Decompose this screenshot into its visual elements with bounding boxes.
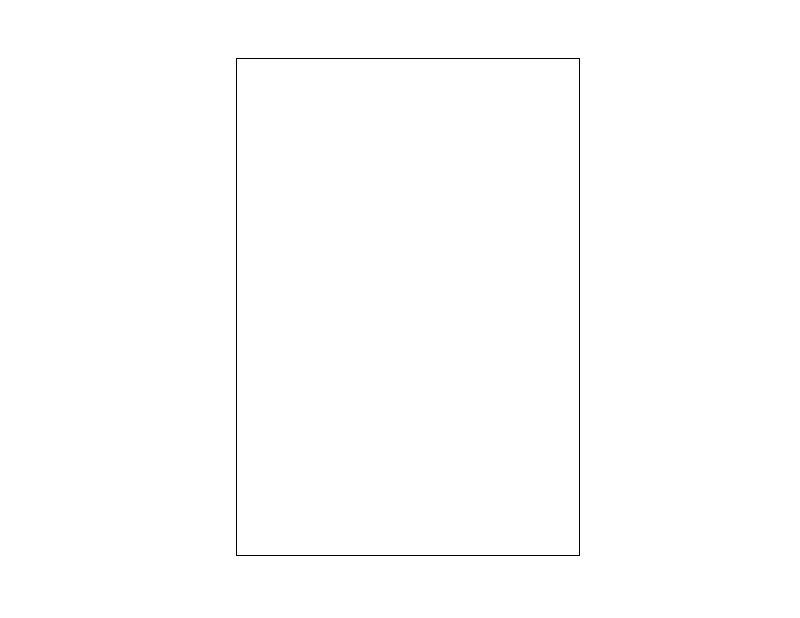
colorbar bbox=[673, 78, 695, 540]
axes-container bbox=[236, 58, 580, 556]
